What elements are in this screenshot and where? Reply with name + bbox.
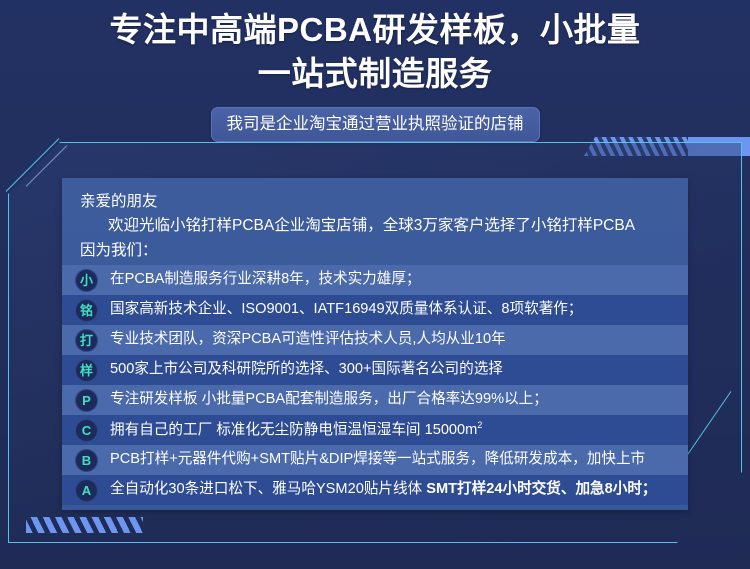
page-title-line-1: 专注中高端PCBA研发样板，小批量 xyxy=(109,11,640,48)
list-item-label: 在PCBA制造服务行业深耕8年，技术实力雄厚； xyxy=(110,271,421,289)
list-item-badge: 打 xyxy=(75,329,98,352)
intro-block: 亲爱的朋友 欢迎光临小铭打样PCBA企业淘宝店铺，全球3万家客户选择了小铭打样P… xyxy=(62,178,688,265)
greeting-text: 亲爱的朋友 xyxy=(80,190,670,214)
list-item: P专注研发样板 小批量PCBA配套制造服务，出厂合格率达99%以上； xyxy=(62,385,688,415)
list-item: 样500家上市公司及科研院所的选择、300+国际著名公司的选择 xyxy=(62,355,688,385)
list-item-label-superscript: 2 xyxy=(477,420,482,430)
page-title: 专注中高端PCBA研发样板，小批量 一站式制造服务 xyxy=(0,8,750,96)
list-item-badge: 样 xyxy=(75,359,98,382)
header: 专注中高端PCBA研发样板，小批量 一站式制造服务 我司是企业淘宝通过营业执照验… xyxy=(0,8,750,142)
list-item-badge: 铭 xyxy=(75,299,98,322)
list-item-badge: C xyxy=(75,419,98,442)
list-item: C拥有自己的工厂 标准化无尘防静电恒温恒湿车间 15000m2 xyxy=(62,415,688,445)
content-panel: 亲爱的朋友 欢迎光临小铭打样PCBA企业淘宝店铺，全球3万家客户选择了小铭打样P… xyxy=(62,178,688,510)
list-item-label: 专注研发样板 小批量PCBA配套制造服务，出厂合格率达99%以上； xyxy=(110,391,548,409)
welcome-text: 欢迎光临小铭打样PCBA企业淘宝店铺，全球3万家客户选择了小铭打样PCBA xyxy=(80,214,670,238)
list-item-label: 500家上市公司及科研院所的选择、300+国际著名公司的选择 xyxy=(110,361,503,379)
list-item-label: PCB打样+元器件代购+SMT贴片&DIP焊接等一站式服务，降低研发成本，加快上… xyxy=(110,451,645,469)
list-item-badge: A xyxy=(75,479,98,502)
list-item-badge: P xyxy=(75,389,98,412)
list-item-badge: B xyxy=(75,449,98,472)
bottom-stripes-decoration xyxy=(26,517,143,533)
because-text: 因为我们： xyxy=(80,239,670,263)
list-item-label: 拥有自己的工厂 标准化无尘防静电恒温恒湿车间 15000m2 xyxy=(110,420,482,439)
list-item-label: 国家高新技术企业、ISO9001、IATF16949双质量体系认证、8项软著作； xyxy=(110,301,583,319)
status-badge: 我司是企业淘宝通过营业执照验证的店铺 xyxy=(211,107,540,143)
feature-list: 小在PCBA制造服务行业深耕8年，技术实力雄厚；铭国家高新技术企业、ISO900… xyxy=(62,265,688,505)
list-item-label-pre: 全自动化30条进口松下、雅马哈YSM20贴片线体 xyxy=(110,481,426,497)
list-item: BPCB打样+元器件代购+SMT贴片&DIP焊接等一站式服务，降低研发成本，加快… xyxy=(62,445,688,475)
list-item-badge: 小 xyxy=(75,269,98,292)
list-item: 铭国家高新技术企业、ISO9001、IATF16949双质量体系认证、8项软著作… xyxy=(62,295,688,325)
list-item: A全自动化30条进口松下、雅马哈YSM20贴片线体 SMT打样24小时交货、加急… xyxy=(62,475,688,505)
list-item-label-emphasis: SMT打样24小时交货、加急8小时； xyxy=(426,481,656,497)
list-item-label-pre: 拥有自己的工厂 标准化无尘防静电恒温恒湿车间 15000m xyxy=(110,422,477,438)
list-item-label: 专业技术团队，资深PCBA可造性评估技术人员,人均从业10年 xyxy=(110,331,506,349)
promo-banner: 专注中高端PCBA研发样板，小批量 一站式制造服务 我司是企业淘宝通过营业执照验… xyxy=(0,0,750,569)
page-title-line-2: 一站式制造服务 xyxy=(0,52,750,96)
list-item: 打专业技术团队，资深PCBA可造性评估技术人员,人均从业10年 xyxy=(62,325,688,355)
list-item: 小在PCBA制造服务行业深耕8年，技术实力雄厚； xyxy=(62,265,688,295)
list-item-label: 全自动化30条进口松下、雅马哈YSM20贴片线体 SMT打样24小时交货、加急8… xyxy=(110,481,657,499)
